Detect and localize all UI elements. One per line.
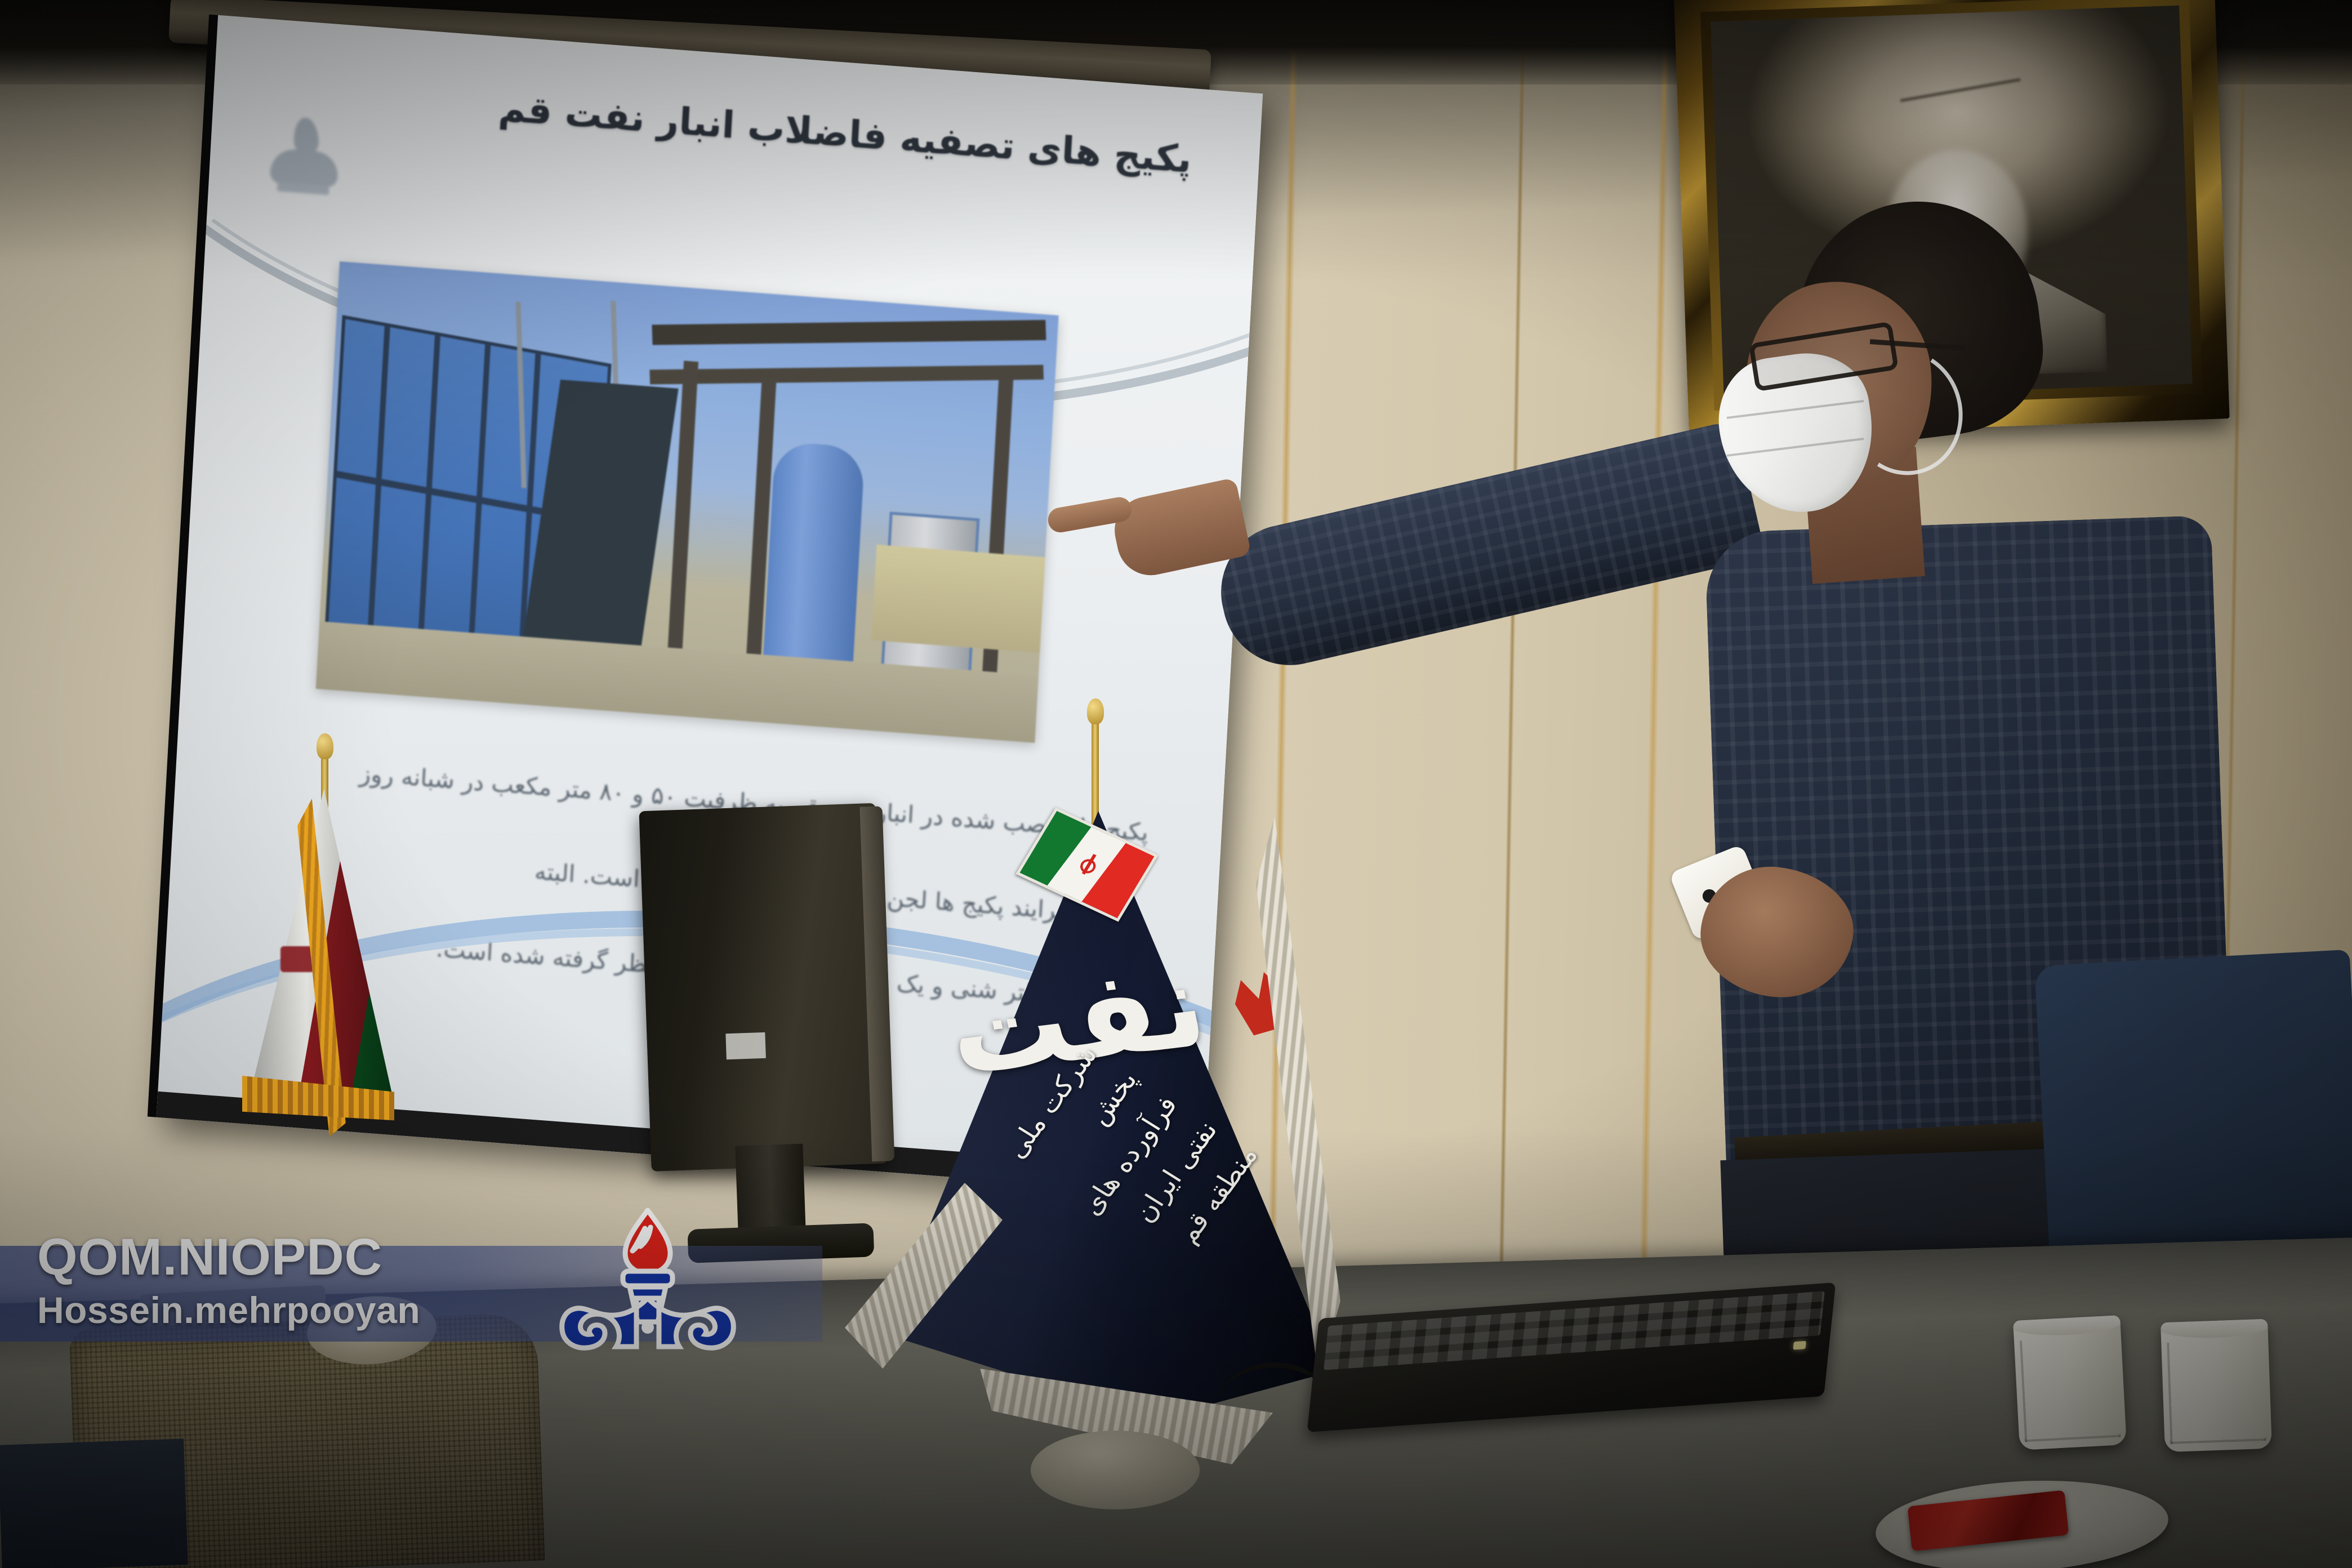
watermark-text: QOM.NIOPDC Hossein.mehrpooyan — [37, 1228, 544, 1334]
niopdc-torch-logo — [558, 1202, 738, 1371]
monitor-sticker-label — [725, 1032, 766, 1059]
cup-rim — [2161, 1319, 2271, 1340]
cup-pattern — [2167, 1339, 2266, 1444]
watermark-line-1: QOM.NIOPDC — [37, 1228, 544, 1286]
pennant-stand-base — [1031, 1431, 1200, 1509]
photo-canopy-beam — [652, 320, 1046, 345]
niopdc-logo-svg — [558, 1202, 738, 1371]
flag-finial — [317, 733, 333, 759]
cup-pattern — [2020, 1336, 2121, 1442]
watermark-line-2: Hossein.mehrpooyan — [37, 1286, 544, 1334]
paper-cup[interactable] — [2013, 1315, 2127, 1450]
photo-ground-sand — [871, 545, 1045, 653]
monitor-panel-back — [639, 803, 888, 1171]
niopdc-slide-logo — [269, 115, 341, 205]
iran-emblem-icon — [1071, 849, 1107, 880]
paper-cup[interactable] — [2161, 1319, 2272, 1452]
iran-emblem-icon — [280, 946, 314, 972]
cloud-icon — [270, 148, 339, 188]
pennant-finial — [1087, 698, 1104, 724]
slide-photo — [316, 261, 1059, 743]
portrait-glasses — [1900, 78, 2024, 121]
keyboard-led-icon — [1793, 1341, 1806, 1350]
floor-area — [0, 1438, 188, 1568]
photo-canopy-beam — [649, 365, 1044, 385]
screenshot-root: پکیج های تصفیه فاضلاب انبار نفت قم — [0, 0, 2352, 1568]
